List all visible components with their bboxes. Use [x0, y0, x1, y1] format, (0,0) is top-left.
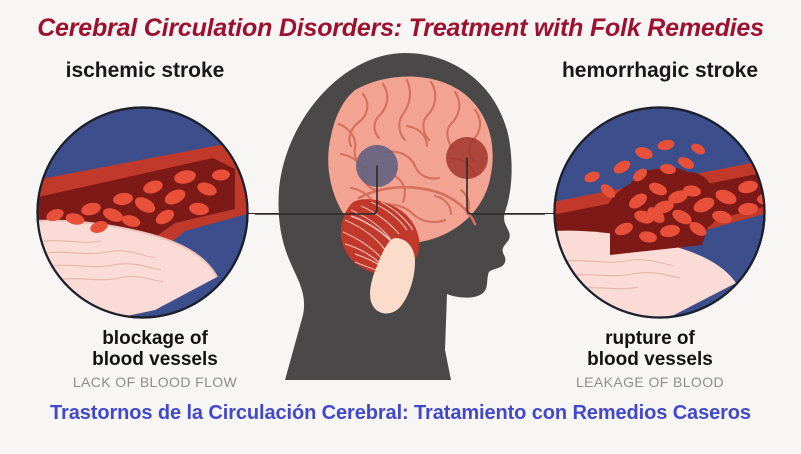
right-caption-sub: LEAKAGE OF BLOOD: [520, 374, 780, 390]
hemorrhagic-vessel-icon: [552, 105, 767, 320]
right-caption: rupture of blood vessels LEAKAGE OF BLOO…: [520, 328, 780, 390]
page-subtitle: Trastornos de la Circulación Cerebral: T…: [0, 402, 801, 425]
left-caption-line2: blood vessels: [25, 349, 285, 370]
left-caption-sub: LACK OF BLOOD FLOW: [25, 374, 285, 390]
head-profile-icon: [255, 50, 545, 380]
left-caption-line1: blockage of: [25, 328, 285, 349]
right-panel-heading: hemorrhagic stroke: [525, 59, 795, 83]
left-caption: blockage of blood vessels LACK OF BLOOD …: [25, 328, 285, 390]
page-title: Cerebral Circulation Disorders: Treatmen…: [0, 14, 801, 43]
right-caption-line1: rupture of: [520, 328, 780, 349]
left-panel-heading: ischemic stroke: [10, 59, 280, 83]
ischemic-vessel-icon: [35, 105, 250, 320]
right-caption-line2: blood vessels: [520, 349, 780, 370]
